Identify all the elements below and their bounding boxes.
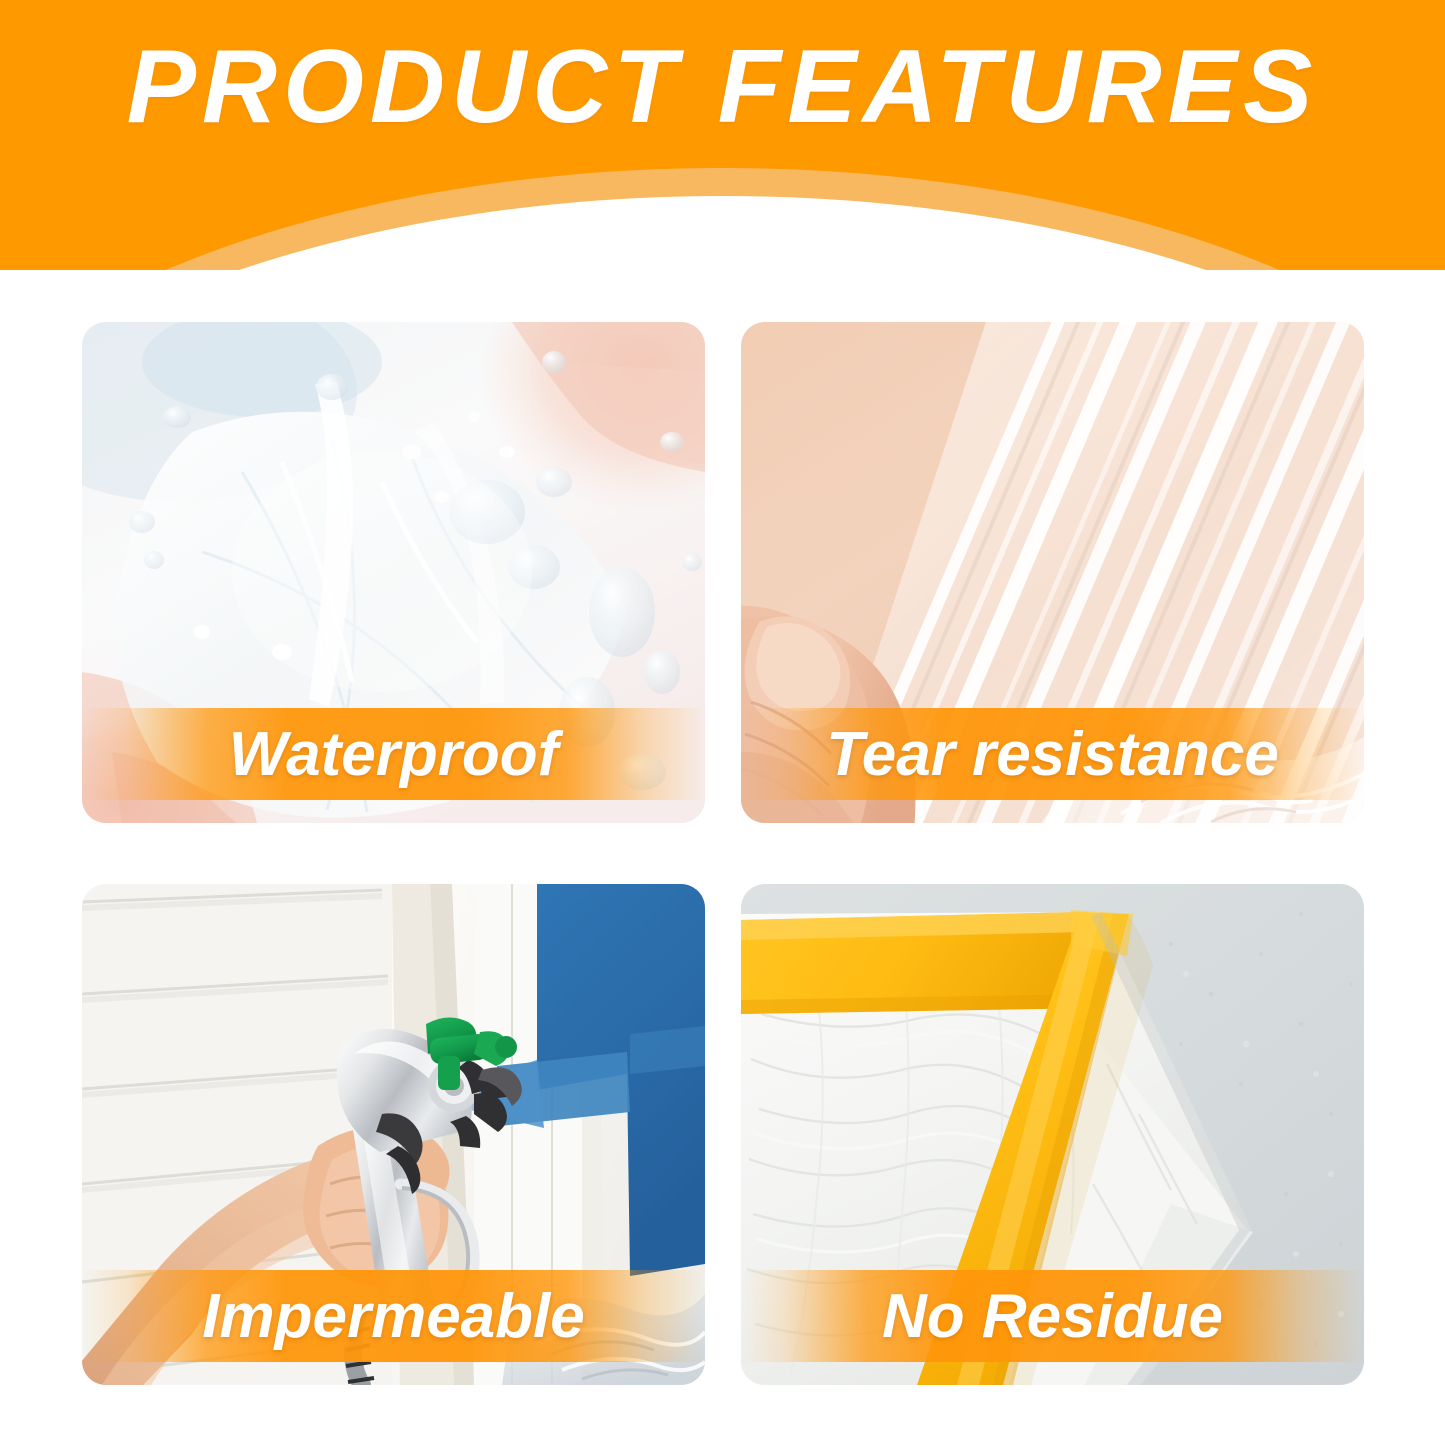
feature-label: Impermeable	[202, 1281, 585, 1352]
product-features-infographic: PRODUCT FEATURES	[0, 0, 1445, 1445]
feature-card-impermeable[interactable]: Impermeable	[82, 884, 705, 1385]
feature-label: No Residue	[882, 1281, 1223, 1352]
header-banner: PRODUCT FEATURES	[0, 0, 1445, 270]
feature-label: Waterproof	[229, 719, 559, 790]
feature-grid: Waterproof	[82, 322, 1364, 1385]
feature-label-band: Impermeable	[82, 1270, 705, 1362]
feature-label: Tear resistance	[826, 719, 1279, 790]
feature-card-tear-resistance[interactable]: Tear resistance	[741, 322, 1364, 823]
feature-label-band: Tear resistance	[741, 708, 1364, 800]
feature-card-waterproof[interactable]: Waterproof	[82, 322, 705, 823]
feature-label-band: Waterproof	[82, 708, 705, 800]
feature-label-band: No Residue	[741, 1270, 1364, 1362]
page-title: PRODUCT FEATURES	[0, 0, 1445, 175]
feature-card-no-residue[interactable]: No Residue	[741, 884, 1364, 1385]
